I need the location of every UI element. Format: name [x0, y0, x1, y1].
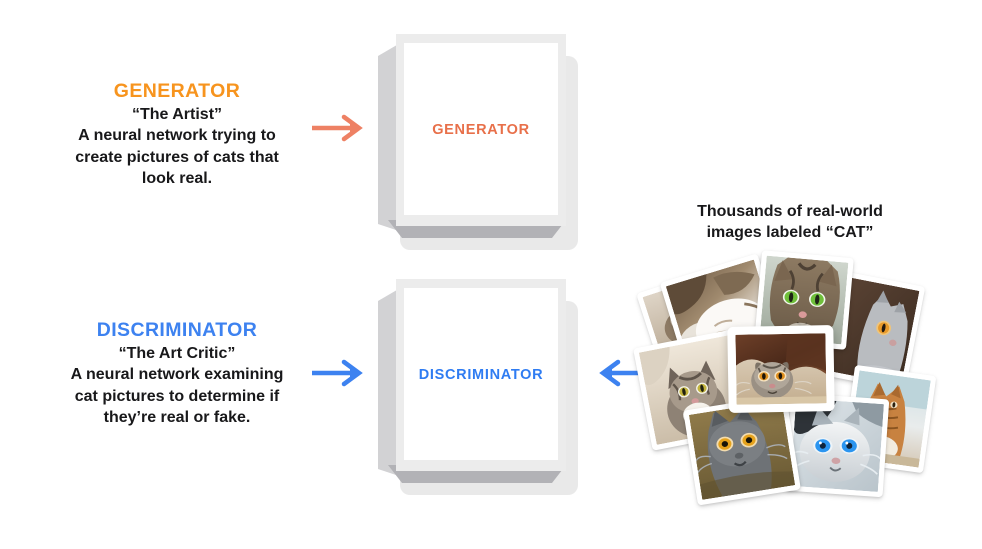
generator-description-line-1: A neural network trying to	[32, 126, 322, 146]
discriminator-description-line-2: cat pictures to determine if	[32, 387, 322, 407]
photo-blanket-tabby-image	[735, 333, 826, 405]
generator-description-line-2: create pictures of cats that	[32, 148, 322, 168]
arrow-right-blue-icon	[310, 357, 366, 394]
photo-blanket-tabby	[727, 325, 834, 413]
generator-box: GENERATOR	[378, 34, 578, 250]
discriminator-nickname: “The Art Critic”	[32, 345, 322, 364]
discriminator-heading: DISCRIMINATOR	[32, 319, 322, 341]
generator-description-block: GENERATOR “The Artist” A neural network …	[32, 80, 322, 190]
arrow-right-orange-icon	[310, 112, 366, 149]
discriminator-box-face: DISCRIMINATOR	[396, 279, 566, 471]
dataset-caption-line-2: images labeled “CAT”	[665, 223, 915, 244]
photo-gray-kitten-image	[689, 400, 795, 500]
generator-box-label: GENERATOR	[432, 122, 530, 138]
cat-photo-collage	[640, 250, 930, 515]
generator-box-face: GENERATOR	[396, 34, 566, 226]
dataset-caption: Thousands of real-world images labeled “…	[665, 202, 915, 244]
dataset-caption-line-1: Thousands of real-world	[665, 202, 915, 223]
diagram-canvas: GENERATOR “The Artist” A neural network …	[0, 0, 982, 549]
generator-description-line-3: look real.	[32, 169, 322, 189]
discriminator-description-line-3: they’re real or fake.	[32, 408, 322, 428]
photo-blue-eyed-ragdoll-image	[790, 398, 884, 492]
discriminator-box: DISCRIMINATOR	[378, 279, 578, 495]
generator-heading: GENERATOR	[32, 80, 322, 102]
generator-nickname: “The Artist”	[32, 106, 322, 125]
discriminator-description-line-1: A neural network examining	[32, 365, 322, 385]
discriminator-box-label: DISCRIMINATOR	[419, 367, 544, 383]
discriminator-description-block: DISCRIMINATOR “The Art Critic” A neural …	[32, 319, 322, 429]
